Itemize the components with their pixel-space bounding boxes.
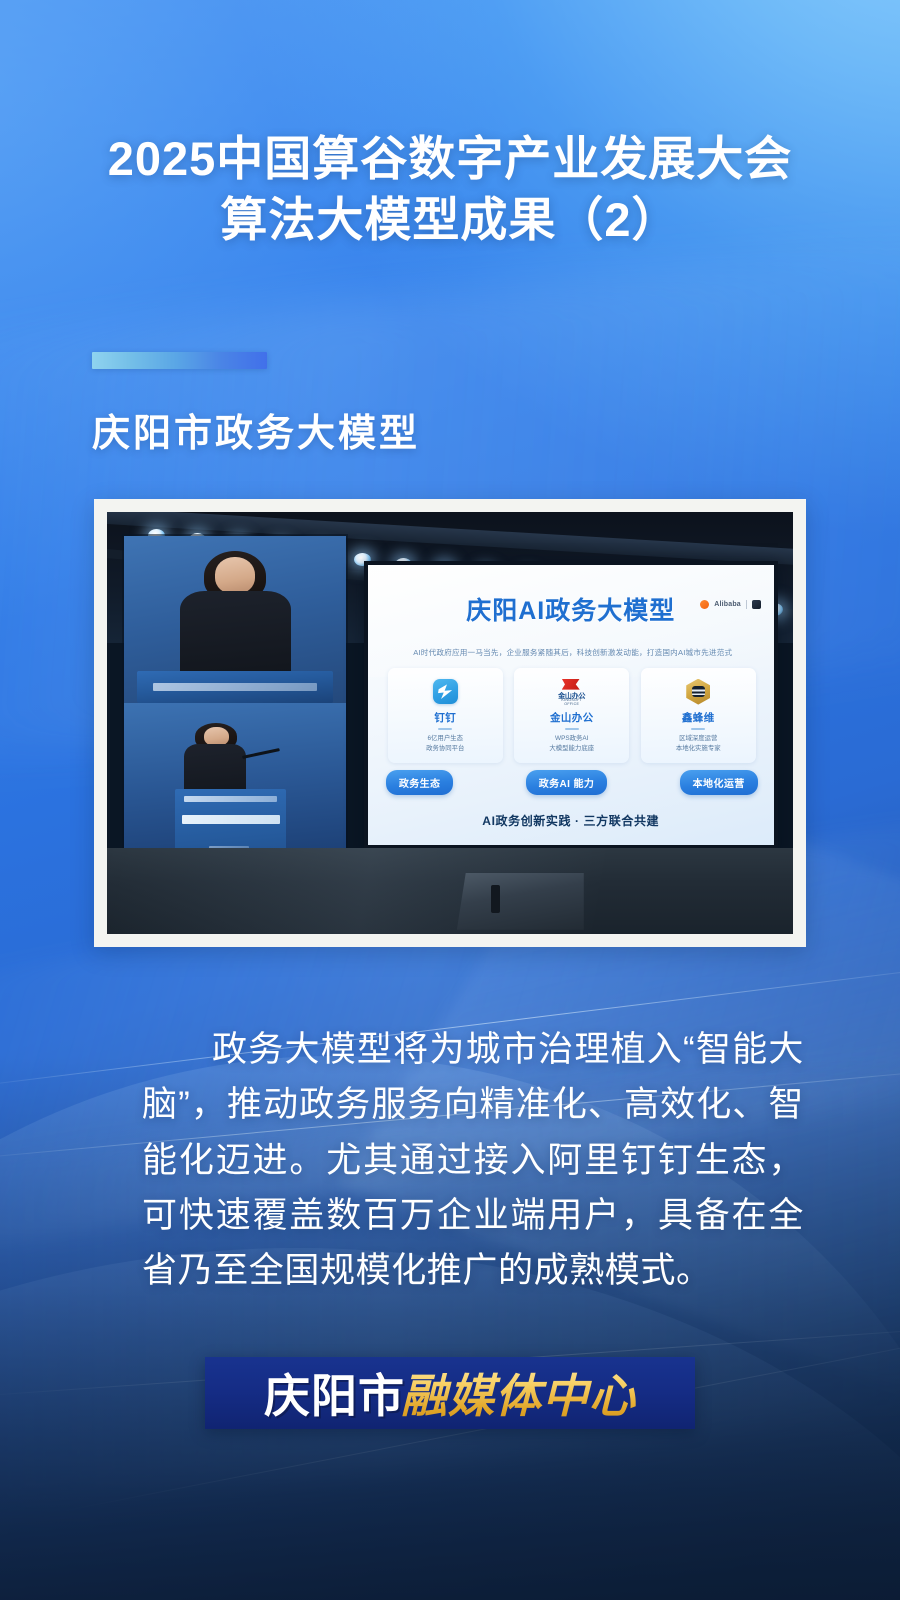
- stage-monitor-speaker: [457, 873, 584, 930]
- card-rule: [691, 728, 705, 730]
- card-desc-line-1: WPS政务AI: [518, 734, 625, 745]
- card-name: 鑫蜂维: [645, 710, 752, 725]
- podium-banner-text: [153, 683, 317, 691]
- slide-title: 庆阳AI政务大模型: [368, 591, 774, 627]
- kingsoft-office-icon: 金山办公 KINGSOFT OFFICE: [557, 679, 587, 705]
- screen-closeup-feed: [124, 536, 346, 703]
- slide-card-kingsoft: 金山办公 KINGSOFT OFFICE 金山办公 WPS政务AI 大模型能力底…: [514, 668, 629, 763]
- content-layer: 2025中国算谷数字产业发展大会 算法大模型成果（2） 庆阳市政务大模型: [0, 0, 900, 1600]
- slide-cards-row: 钉钉 6亿用户生态 政务协同平台 金山办公 K: [388, 668, 756, 763]
- hex-badge-icon: [686, 679, 710, 705]
- slide-pill-ecosystem: 政务生态: [386, 770, 454, 795]
- slide-subtitle: AI时代政府应用一马当先，企业服务紧随其后，科技创新激发动能，打造国内AI城市先…: [392, 647, 754, 658]
- card-desc-line-2: 本地化实施专家: [645, 744, 752, 755]
- speaker-head: [215, 557, 255, 594]
- slide-card-xinfengwei: 鑫蜂维 区域深度运营 本地化实施专家: [641, 668, 756, 763]
- podium-banner-text: [184, 796, 277, 803]
- card-name: 钉钉: [392, 710, 499, 725]
- section-title: 庆阳市政务大模型: [92, 402, 420, 457]
- section-heading: 庆阳市政务大模型: [92, 352, 420, 457]
- card-rule: [565, 728, 579, 730]
- poster-root: 2025中国算谷数字产业发展大会 算法大模型成果（2） 庆阳市政务大模型: [0, 0, 900, 1600]
- footer-logo-plate: 庆阳市 融媒体中心: [205, 1357, 695, 1429]
- card-name: 金山办公: [518, 710, 625, 725]
- card-rule: [438, 728, 452, 730]
- card-icon-wrap: 金山办公 KINGSOFT OFFICE: [518, 677, 625, 706]
- photo-card: Alibaba 庆阳AI政务大模型 AI时代政府应用一马当先，企业服务紧随其后，…: [94, 499, 806, 947]
- speaker-torso: [180, 591, 291, 675]
- microphone-icon: [242, 748, 280, 759]
- footer-name-city: 庆阳市: [264, 1360, 405, 1426]
- slide-card-dingtalk: 钉钉 6亿用户生态 政务协同平台: [388, 668, 503, 763]
- page-title: 2025中国算谷数字产业发展大会 算法大模型成果（2）: [0, 128, 900, 250]
- conference-photo: Alibaba 庆阳AI政务大模型 AI时代政府应用一马当先，企业服务紧随其后，…: [107, 512, 793, 934]
- dingtalk-icon: [433, 679, 458, 704]
- stage-floor-sheen: [107, 848, 793, 935]
- card-desc-line-2: 政务协同平台: [392, 744, 499, 755]
- kingsoft-logo-subtext: KINGSOFT OFFICE: [557, 698, 587, 706]
- footer-name-media-center: 融媒体中心: [401, 1360, 636, 1426]
- main-projection-screen: Alibaba 庆阳AI政务大模型 AI时代政府应用一马当先，企业服务紧随其后，…: [364, 561, 778, 850]
- card-desc-line-2: 大模型能力底座: [518, 744, 625, 755]
- slide-pills-row: 政务生态 政务AI 能力 本地化运营: [386, 770, 758, 795]
- speaker-head: [204, 727, 228, 745]
- card-desc-line-1: 6亿用户生态: [392, 734, 499, 745]
- card-icon-wrap: [392, 677, 499, 706]
- slide-surface: Alibaba 庆阳AI政务大模型 AI时代政府应用一马当先，企业服务紧随其后，…: [368, 565, 774, 845]
- slide-pill-ai-capability: 政务AI 能力: [526, 770, 608, 795]
- card-icon-wrap: [645, 677, 752, 706]
- page-title-line-1: 2025中国算谷数字产业发展大会: [108, 132, 793, 185]
- kingsoft-flag-icon: [562, 679, 580, 690]
- body-paragraph: 政务大模型将为城市治理植入“智能大脑”，推动政务服务向精准化、高效化、智能化迈进…: [142, 1022, 804, 1298]
- slide-pill-local-operation: 本地化运营: [680, 770, 758, 795]
- accent-bar: [92, 352, 267, 369]
- card-desc-line-1: 区域深度运营: [645, 734, 752, 745]
- podium-light-strip: [182, 815, 280, 824]
- slide-footer-text: AI政务创新实践 · 三方联合共建: [368, 812, 774, 829]
- page-title-line-2: 算法大模型成果（2）: [0, 189, 900, 250]
